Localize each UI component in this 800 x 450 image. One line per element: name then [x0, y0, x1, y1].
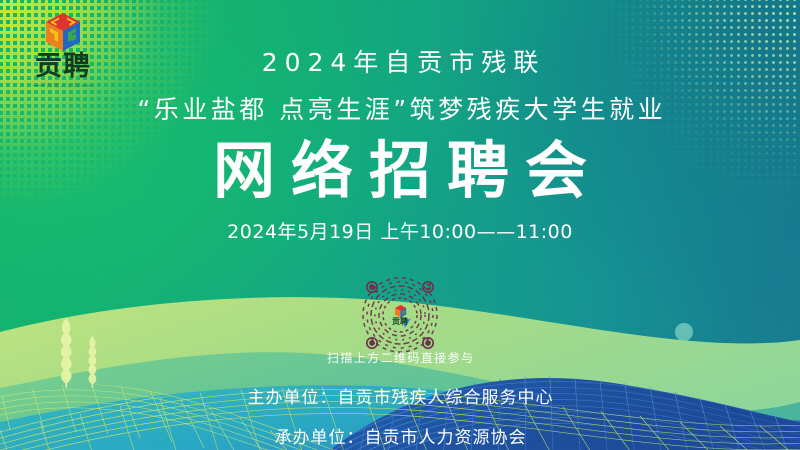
- bubble-accent: [675, 323, 693, 341]
- datetime-line: 2024年5月19日 上午10:00——11:00: [0, 217, 800, 244]
- host-organization: 主办单位：自贡市残疾人综合服务中心: [0, 383, 800, 408]
- organizer-line: 2024年自贡市残联: [0, 43, 800, 79]
- scan-hint: 扫描上方二维码直接参与: [0, 349, 800, 366]
- co-organizer: 承办单位：自贡市人力资源协会: [0, 423, 800, 448]
- poster-canvas: 贡聘 贡 聘 人 才 网 2024年自贡市残联 “乐业盐都 点亮生涯”筑梦残疾大…: [0, 0, 800, 450]
- poster-footer: 扫描上方二维码直接参与 主办单位：自贡市残疾人综合服务中心 承办单位：自贡市人力…: [0, 349, 800, 448]
- slogan-line: “乐业盐都 点亮生涯”筑梦残疾大学生就业: [0, 90, 800, 126]
- music-note-icon: [426, 283, 430, 290]
- qr-center-brand: 贡聘: [359, 318, 441, 326]
- poster-content: 2024年自贡市残联 “乐业盐都 点亮生涯”筑梦残疾大学生就业 网络招聘会 20…: [0, 0, 800, 244]
- qr-code-graphic: [359, 274, 441, 356]
- qr-code[interactable]: 贡聘: [359, 274, 441, 356]
- headline: 网络招聘会: [0, 138, 800, 203]
